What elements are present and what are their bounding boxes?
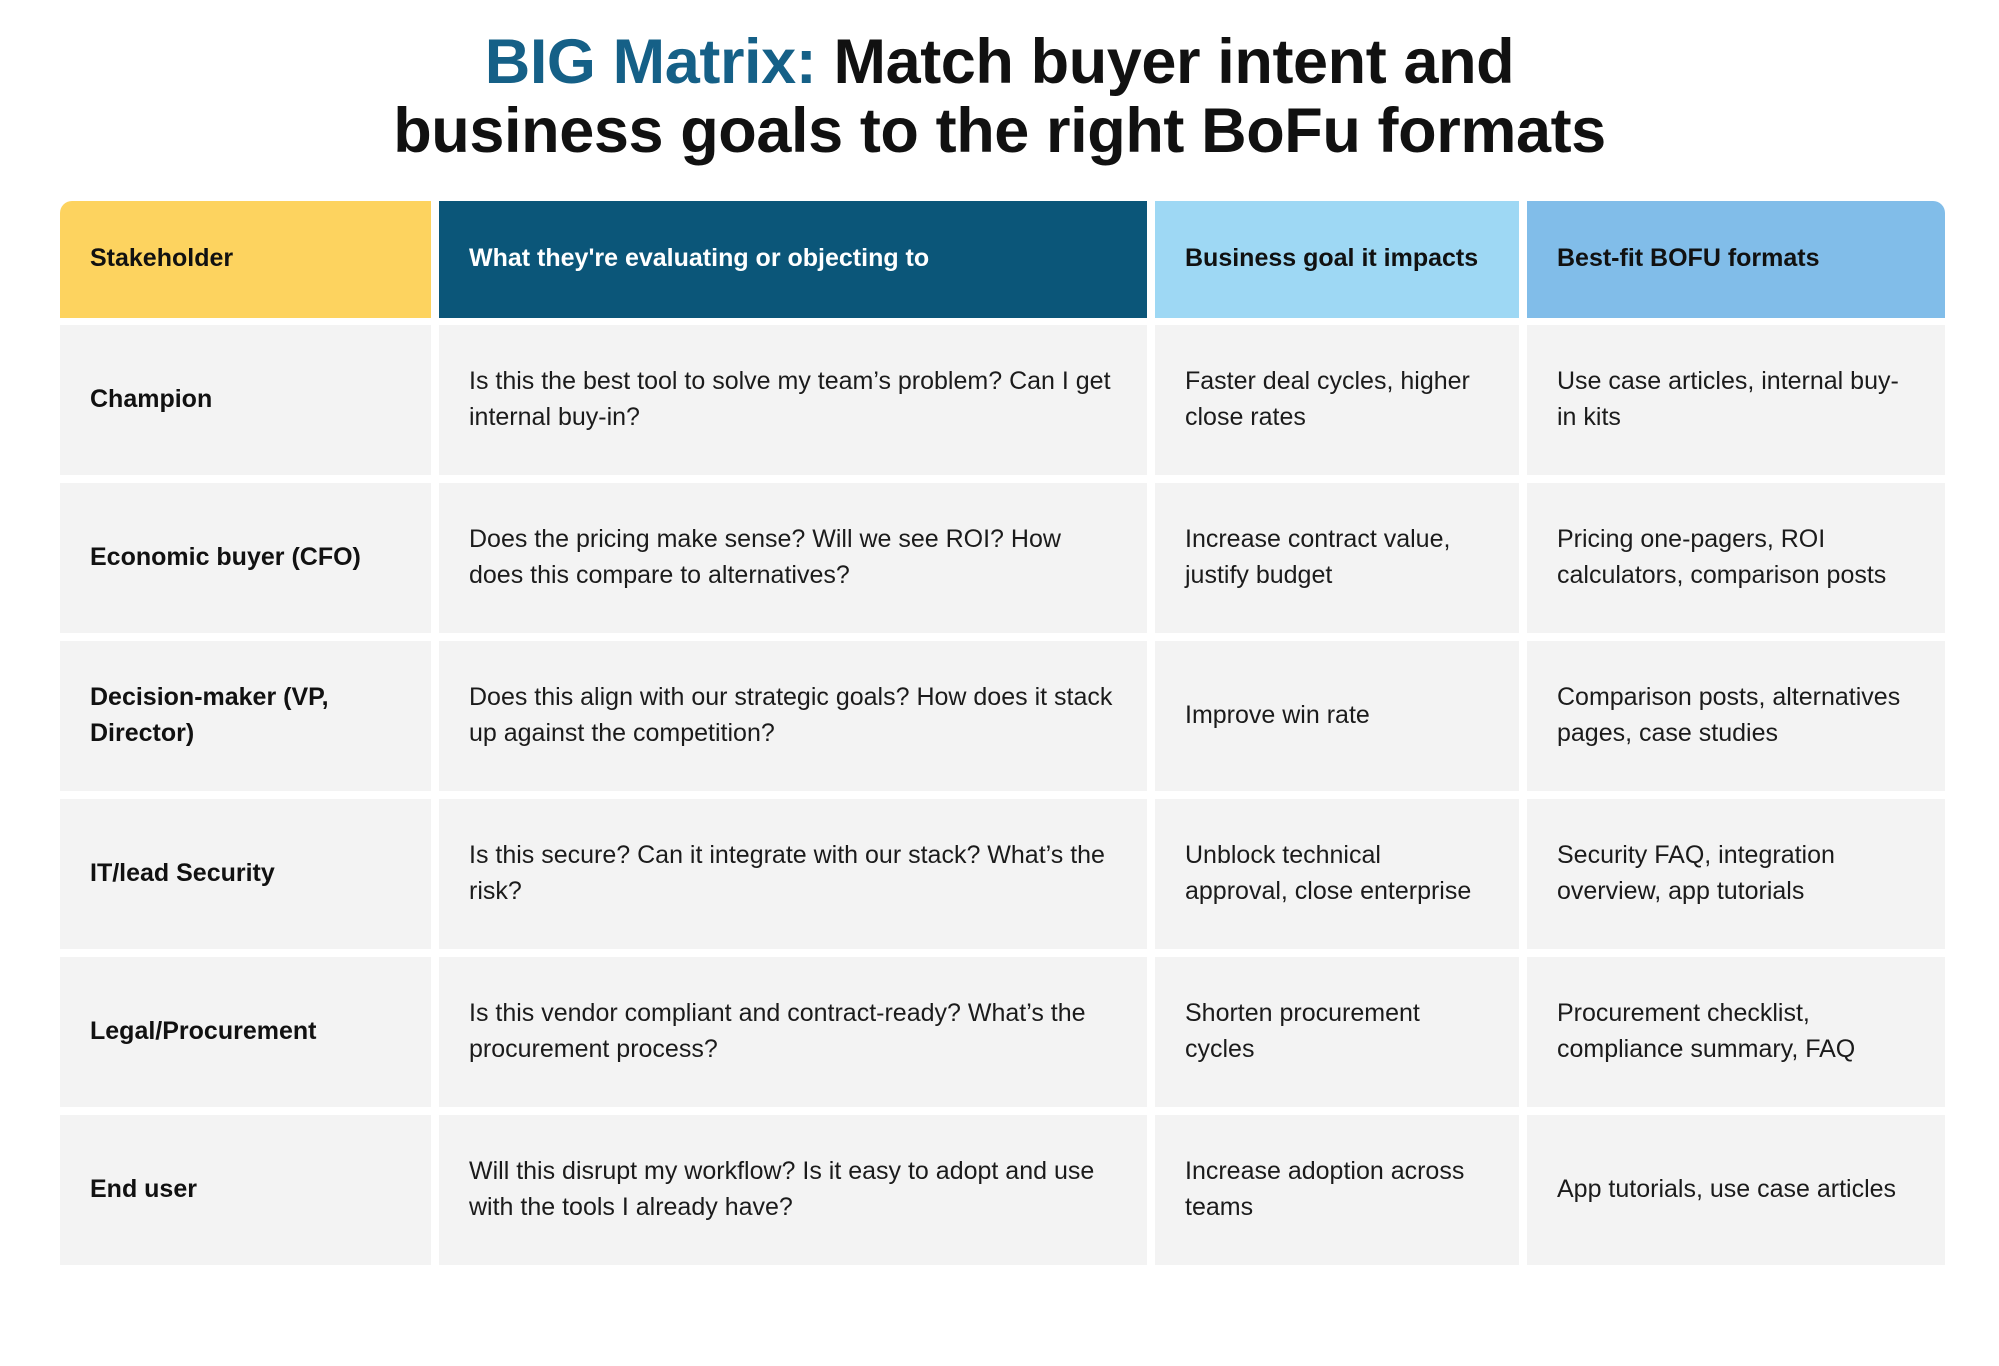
cell-business-goal-text: Faster deal cycles, higher close rates (1185, 364, 1489, 435)
cell-evaluating-text: Does this align with our strategic goals… (469, 680, 1117, 751)
cell-evaluating-text: Is this vendor compliant and contract-re… (469, 996, 1117, 1067)
cell-stakeholder: Decision-maker (VP, Director) (60, 641, 431, 791)
cell-evaluating: Is this secure? Can it integrate with ou… (439, 799, 1147, 949)
big-matrix-table: Stakeholder What they're evaluating or o… (60, 201, 1937, 1265)
cell-bofu-formats: Security FAQ, integration overview, app … (1527, 799, 1945, 949)
table-body: Champion Is this the best tool to solve … (60, 325, 1937, 1265)
cell-business-goal-text: Unblock technical approval, close enterp… (1185, 838, 1489, 909)
column-header-bofu-formats: Best-fit BOFU formats (1527, 201, 1945, 318)
cell-business-goal: Shorten procurement cycles (1155, 957, 1519, 1107)
cell-evaluating: Will this disrupt my workflow? Is it eas… (439, 1115, 1147, 1265)
column-header-stakeholder: Stakeholder (60, 201, 431, 318)
cell-business-goal: Increase contract value, justify budget (1155, 483, 1519, 633)
cell-business-goal: Faster deal cycles, higher close rates (1155, 325, 1519, 475)
cell-stakeholder: Champion (60, 325, 431, 475)
cell-bofu-formats: Procurement checklist, compliance summar… (1527, 957, 1945, 1107)
cell-stakeholder-text: Economic buyer (CFO) (90, 540, 361, 576)
cell-bofu-formats-text: Procurement checklist, compliance summar… (1557, 996, 1915, 1067)
page-title-line-1: BIG Matrix: Match buyer intent and (60, 28, 1939, 97)
cell-stakeholder: End user (60, 1115, 431, 1265)
cell-bofu-formats-text: Comparison posts, alternatives pages, ca… (1557, 680, 1915, 751)
cell-evaluating: Does this align with our strategic goals… (439, 641, 1147, 791)
table-row: Economic buyer (CFO) Does the pricing ma… (60, 483, 1937, 633)
cell-business-goal-text: Increase contract value, justify budget (1185, 522, 1489, 593)
cell-stakeholder-text: Decision-maker (VP, Director) (90, 680, 401, 751)
cell-bofu-formats-text: Pricing one-pagers, ROI calculators, com… (1557, 522, 1915, 593)
table-row: Decision-maker (VP, Director) Does this … (60, 641, 1937, 791)
cell-business-goal-text: Shorten procurement cycles (1185, 996, 1489, 1067)
page-title-accent: BIG Matrix: (485, 27, 817, 97)
column-header-bofu-formats-label: Best-fit BOFU formats (1557, 243, 1820, 275)
column-header-business-goal: Business goal it impacts (1155, 201, 1519, 318)
cell-stakeholder: Legal/Procurement (60, 957, 431, 1107)
cell-evaluating-text: Is this the best tool to solve my team’s… (469, 364, 1117, 435)
cell-bofu-formats: App tutorials, use case articles (1527, 1115, 1945, 1265)
table-row: IT/lead Security Is this secure? Can it … (60, 799, 1937, 949)
cell-business-goal: Increase adoption across teams (1155, 1115, 1519, 1265)
cell-bofu-formats: Comparison posts, alternatives pages, ca… (1527, 641, 1945, 791)
column-header-evaluating: What they're evaluating or objecting to (439, 201, 1147, 318)
table-row: End user Will this disrupt my workflow? … (60, 1115, 1937, 1265)
cell-stakeholder-text: Champion (90, 382, 212, 418)
cell-business-goal: Unblock technical approval, close enterp… (1155, 799, 1519, 949)
cell-stakeholder-text: Legal/Procurement (90, 1014, 316, 1050)
cell-evaluating-text: Does the pricing make sense? Will we see… (469, 522, 1117, 593)
matrix-page: BIG Matrix: Match buyer intent and busin… (0, 0, 1999, 1366)
cell-evaluating: Is this vendor compliant and contract-re… (439, 957, 1147, 1107)
page-title-line-1-rest: Match buyer intent and (816, 27, 1514, 97)
cell-stakeholder-text: IT/lead Security (90, 856, 275, 892)
column-header-evaluating-label: What they're evaluating or objecting to (469, 243, 929, 275)
cell-business-goal-text: Improve win rate (1185, 698, 1370, 734)
cell-bofu-formats-text: Use case articles, internal buy-in kits (1557, 364, 1915, 435)
table-row: Legal/Procurement Is this vendor complia… (60, 957, 1937, 1107)
cell-bofu-formats: Pricing one-pagers, ROI calculators, com… (1527, 483, 1945, 633)
column-header-business-goal-label: Business goal it impacts (1185, 243, 1478, 275)
cell-bofu-formats: Use case articles, internal buy-in kits (1527, 325, 1945, 475)
cell-bofu-formats-text: Security FAQ, integration overview, app … (1557, 838, 1915, 909)
page-title-line-2: business goals to the right BoFu formats (60, 97, 1939, 166)
column-header-stakeholder-label: Stakeholder (90, 243, 233, 275)
cell-evaluating-text: Will this disrupt my workflow? Is it eas… (469, 1154, 1117, 1225)
cell-stakeholder: IT/lead Security (60, 799, 431, 949)
cell-evaluating: Is this the best tool to solve my team’s… (439, 325, 1147, 475)
cell-business-goal-text: Increase adoption across teams (1185, 1154, 1489, 1225)
table-header-row: Stakeholder What they're evaluating or o… (60, 201, 1937, 318)
cell-evaluating: Does the pricing make sense? Will we see… (439, 483, 1147, 633)
table-row: Champion Is this the best tool to solve … (60, 325, 1937, 475)
cell-bofu-formats-text: App tutorials, use case articles (1557, 1172, 1896, 1208)
page-title: BIG Matrix: Match buyer intent and busin… (0, 0, 1999, 167)
cell-stakeholder-text: End user (90, 1172, 197, 1208)
cell-evaluating-text: Is this secure? Can it integrate with ou… (469, 838, 1117, 909)
cell-stakeholder: Economic buyer (CFO) (60, 483, 431, 633)
cell-business-goal: Improve win rate (1155, 641, 1519, 791)
